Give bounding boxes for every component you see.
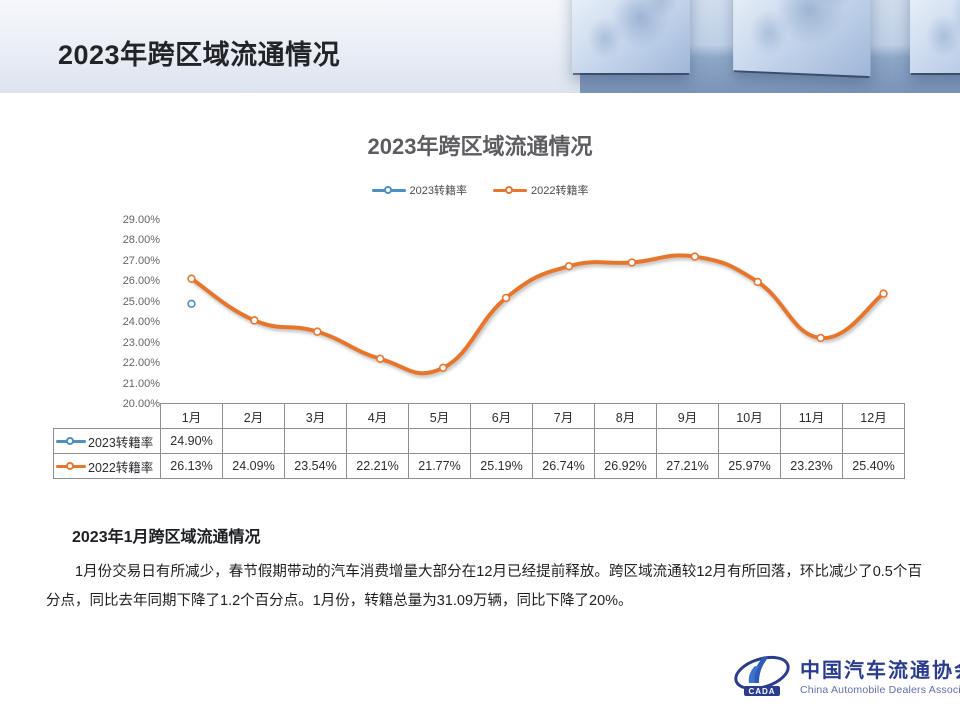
table-cell bbox=[347, 429, 409, 454]
table-cell bbox=[223, 429, 285, 454]
data-point-marker[interactable] bbox=[817, 335, 824, 342]
table-cell: 23.54% bbox=[285, 454, 347, 479]
data-table: 1月 2月 3月 4月 5月 6月 7月 8月 9月 10月 11月 12月 2… bbox=[53, 403, 905, 479]
table-cell: 26.92% bbox=[595, 454, 657, 479]
table-cell bbox=[843, 429, 905, 454]
row-legend-marker-icon bbox=[56, 436, 86, 446]
table-cell: 25.19% bbox=[471, 454, 533, 479]
table-cell: 21.77% bbox=[409, 454, 471, 479]
row-label-text: 2022转籍率 bbox=[88, 457, 153, 476]
table-cell bbox=[533, 429, 595, 454]
glass-cube-icon bbox=[572, 0, 690, 73]
table-col-header: 9月 bbox=[657, 404, 719, 429]
table-col-header: 1月 bbox=[161, 404, 223, 429]
table-row: 2022转籍率 26.13% 24.09% 23.54% 22.21% 21.7… bbox=[54, 454, 905, 479]
table-cell bbox=[471, 429, 533, 454]
header-band: 2023年跨区域流通情况 bbox=[0, 0, 960, 93]
table-cell: 22.21% bbox=[347, 454, 409, 479]
table-col-header: 10月 bbox=[719, 404, 781, 429]
table-header-row: 1月 2月 3月 4月 5月 6月 7月 8月 9月 10月 11月 12月 bbox=[54, 404, 905, 429]
table-cell bbox=[719, 429, 781, 454]
cada-logo-icon: CADA bbox=[733, 652, 791, 698]
data-point-marker[interactable] bbox=[628, 259, 635, 266]
table-col-header: 3月 bbox=[285, 404, 347, 429]
table-row-label-2023: 2023转籍率 bbox=[54, 429, 161, 454]
table-col-header: 4月 bbox=[347, 404, 409, 429]
table-col-header: 5月 bbox=[409, 404, 471, 429]
row-label-text: 2023转籍率 bbox=[88, 432, 153, 451]
footer-logo: CADA 中国汽车流通协会 China Automobile Dealers A… bbox=[733, 652, 960, 698]
data-point-marker[interactable] bbox=[314, 328, 321, 335]
narrative-heading: 2023年1月跨区域流通情况 bbox=[72, 523, 261, 547]
logo-text-block: 中国汽车流通协会 China Automobile Dealers Associ… bbox=[800, 654, 960, 696]
table-cell: 24.09% bbox=[223, 454, 285, 479]
glass-cube-icon bbox=[910, 0, 960, 73]
table-cell bbox=[657, 429, 719, 454]
data-point-marker[interactable] bbox=[188, 300, 195, 307]
data-point-marker[interactable] bbox=[503, 294, 510, 301]
table-col-header: 11月 bbox=[781, 404, 843, 429]
logo-name-en: China Automobile Dealers Association bbox=[800, 684, 960, 696]
table-row-label-2022: 2022转籍率 bbox=[54, 454, 161, 479]
table-cell bbox=[595, 429, 657, 454]
data-point-marker[interactable] bbox=[566, 263, 573, 270]
table-col-header: 8月 bbox=[595, 404, 657, 429]
page-title: 2023年跨区域流通情况 bbox=[58, 33, 340, 72]
table-corner-cell bbox=[54, 404, 161, 429]
table-cell bbox=[409, 429, 471, 454]
row-legend-marker-icon bbox=[56, 461, 86, 471]
data-point-marker[interactable] bbox=[377, 355, 384, 362]
data-point-marker[interactable] bbox=[880, 290, 887, 297]
table-cell: 25.97% bbox=[719, 454, 781, 479]
svg-text:CADA: CADA bbox=[748, 687, 775, 696]
data-point-marker[interactable] bbox=[440, 364, 447, 371]
table-cell: 27.21% bbox=[657, 454, 719, 479]
glass-cube-icon bbox=[733, 0, 870, 76]
header-decorative-art bbox=[580, 0, 960, 93]
table-cell bbox=[285, 429, 347, 454]
table-col-header: 2月 bbox=[223, 404, 285, 429]
table-row: 2023转籍率 24.90% bbox=[54, 429, 905, 454]
table-col-header: 6月 bbox=[471, 404, 533, 429]
narrative-body: 1月份交易日有所减少，春节假期带动的汽车消费增量大部分在12月已经提前释放。跨区… bbox=[46, 558, 922, 616]
table-col-header: 12月 bbox=[843, 404, 905, 429]
table-cell: 24.90% bbox=[161, 429, 223, 454]
table-cell: 26.74% bbox=[533, 454, 595, 479]
data-point-marker[interactable] bbox=[691, 253, 698, 260]
data-point-marker[interactable] bbox=[188, 275, 195, 282]
table-cell: 23.23% bbox=[781, 454, 843, 479]
table-col-header: 7月 bbox=[533, 404, 595, 429]
logo-name-cn: 中国汽车流通协会 bbox=[800, 654, 960, 683]
series-line-2022转籍率 bbox=[191, 255, 883, 373]
table-cell: 26.13% bbox=[161, 454, 223, 479]
table-cell bbox=[781, 429, 843, 454]
data-point-marker[interactable] bbox=[754, 279, 761, 286]
table-cell: 25.40% bbox=[843, 454, 905, 479]
data-point-marker[interactable] bbox=[251, 317, 258, 324]
